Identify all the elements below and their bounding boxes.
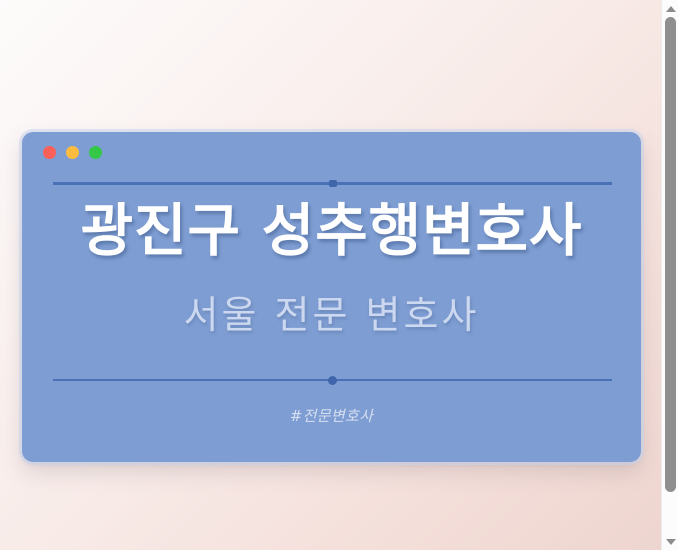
scroll-up-arrow-icon[interactable] [662, 0, 678, 17]
maximize-dot-icon[interactable] [89, 146, 102, 159]
page-canvas: 광진구 성추행변호사 서울 전문 변호사 #전문변호사 [0, 0, 661, 550]
vertical-scrollbar[interactable] [661, 0, 678, 550]
card-subheadline: 서울 전문 변호사 [22, 295, 641, 337]
divider-top-marker-icon [329, 180, 337, 187]
divider-bottom-marker-icon [328, 376, 337, 385]
divider-bottom [53, 379, 612, 381]
divider-top [53, 182, 612, 185]
window-control-dots [43, 146, 102, 159]
scroll-down-arrow-icon[interactable] [662, 533, 678, 550]
card-headline: 광진구 성추행변호사 [22, 202, 641, 262]
triangle-up-icon [666, 6, 676, 12]
card-hashtag: #전문변호사 [22, 405, 641, 426]
hero-card: 광진구 성추행변호사 서울 전문 변호사 #전문변호사 [22, 132, 641, 462]
triangle-down-icon [666, 539, 676, 545]
browser-viewport: 광진구 성추행변호사 서울 전문 변호사 #전문변호사 [0, 0, 678, 550]
minimize-dot-icon[interactable] [66, 146, 79, 159]
scrollbar-thumb[interactable] [665, 17, 676, 492]
close-dot-icon[interactable] [43, 146, 56, 159]
